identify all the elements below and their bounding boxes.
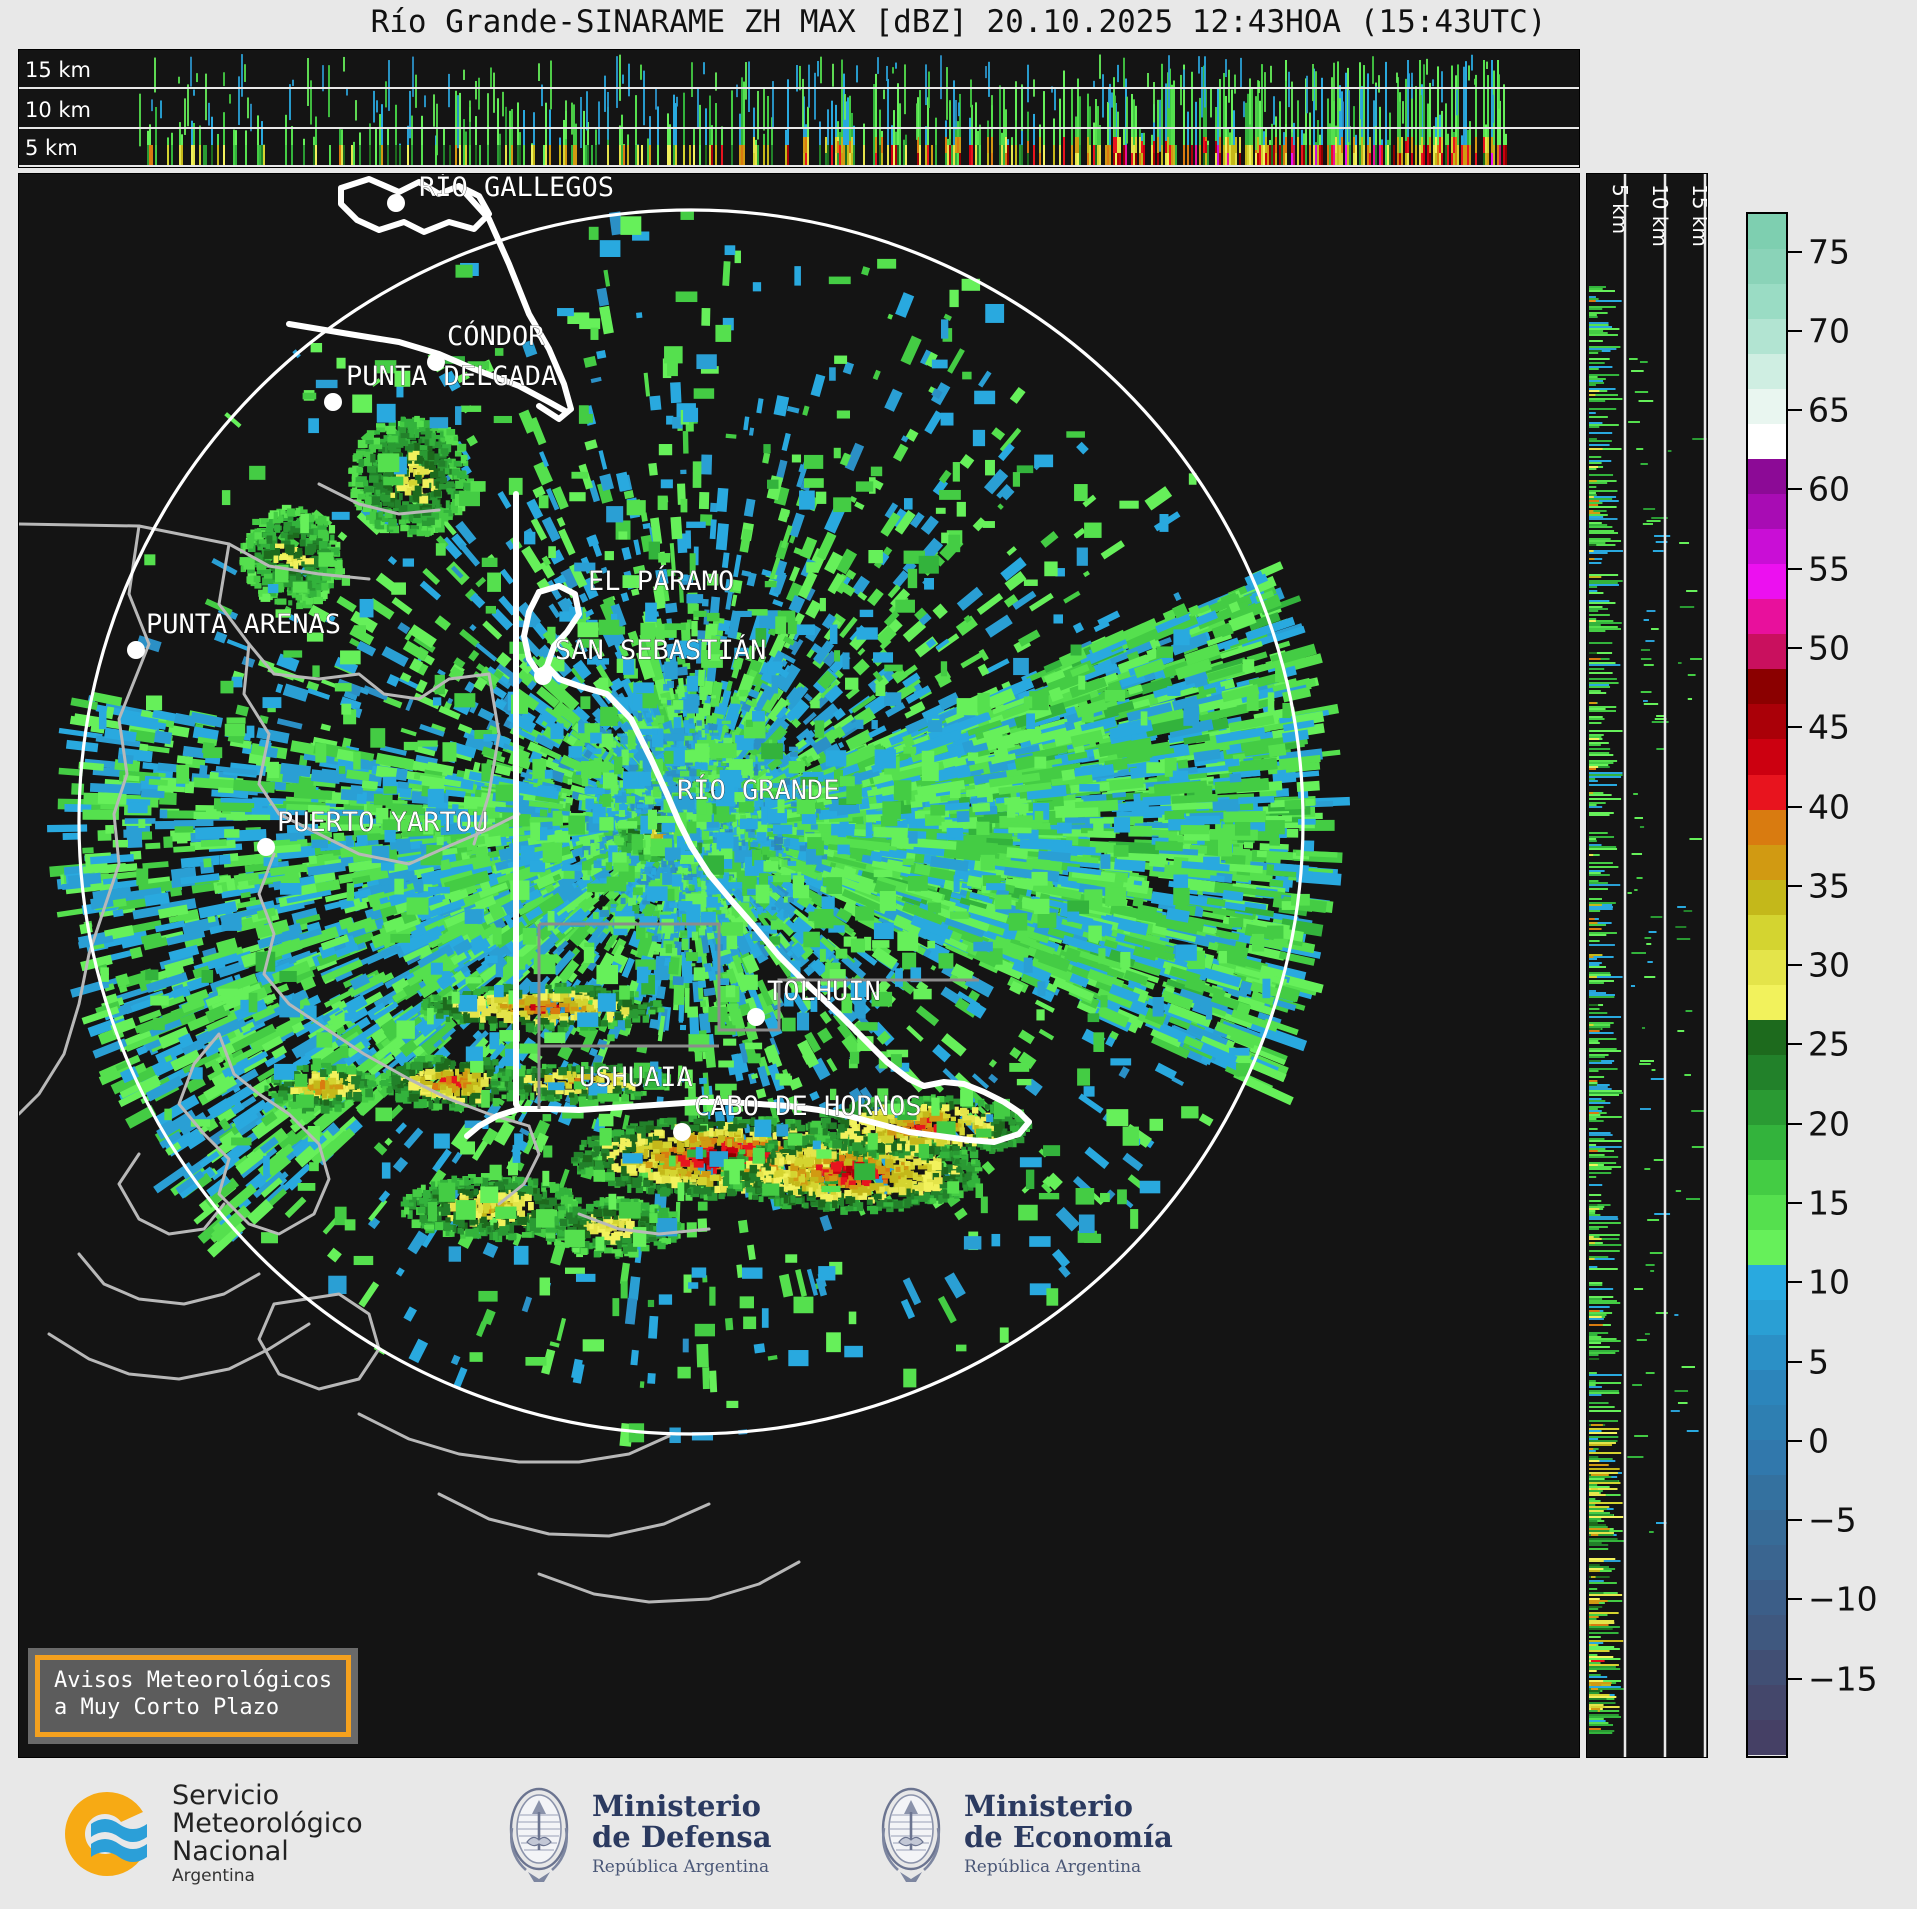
warning-line-1: Avisos Meteorológicos	[54, 1668, 332, 1695]
colorbar-segment	[1748, 775, 1786, 810]
colorbar-segment	[1748, 1440, 1786, 1475]
economia-line-1: Ministerio	[964, 1791, 1173, 1822]
colorbar-segment	[1748, 319, 1786, 354]
colorbar-tick	[1788, 330, 1802, 332]
colorbar-tick	[1788, 885, 1802, 887]
colorbar-tick-labels: 757065605550454035302520151050−5−10−15	[1788, 212, 1908, 1758]
colorbar-segment	[1748, 1545, 1786, 1580]
colorbar-segment	[1748, 284, 1786, 319]
colorbar-segment	[1748, 494, 1786, 529]
colorbar-tick	[1788, 409, 1802, 411]
colorbar-tick	[1788, 251, 1802, 253]
colorbar-segment	[1748, 564, 1786, 599]
top-xsec-label-5km: 5 km	[25, 136, 78, 160]
right-xsec-label-5km: 5 km	[1608, 184, 1632, 234]
colorbar-segment	[1748, 1090, 1786, 1125]
top-xsec-label-15km: 15 km	[25, 58, 91, 82]
colorbar-tick	[1788, 806, 1802, 808]
smn-line-3: Nacional	[172, 1838, 363, 1866]
colorbar-segment	[1748, 810, 1786, 845]
colorbar-segment	[1748, 1370, 1786, 1405]
colorbar-tick	[1788, 1361, 1802, 1363]
colorbar-tick	[1788, 1123, 1802, 1125]
city-marker-dot	[257, 838, 275, 856]
colorbar-segment	[1748, 1615, 1786, 1650]
colorbar-tick	[1788, 726, 1802, 728]
colorbar-tick-label: −15	[1808, 1659, 1878, 1698]
colorbar-segment	[1748, 1475, 1786, 1510]
colorbar-tick	[1788, 1440, 1802, 1442]
colorbar-segment	[1748, 1720, 1786, 1755]
footer-logos: Servicio Meteorológico Nacional Argentin…	[0, 1768, 1917, 1909]
city-label: PUNTA DELGADA	[346, 361, 557, 392]
colorbar-tick-label: 55	[1808, 549, 1850, 588]
warning-line-2: a Muy Corto Plazo	[54, 1695, 332, 1722]
city-label: RÍO GRANDE	[677, 774, 840, 806]
colorbar-segment	[1748, 354, 1786, 389]
colorbar-segment	[1748, 915, 1786, 950]
city-marker-dot	[534, 667, 552, 685]
city-label: PUNTA ARENAS	[146, 609, 341, 640]
colorbar-segment	[1748, 1580, 1786, 1615]
nowcast-warning-box[interactable]: Avisos Meteorológicos a Muy Corto Plazo	[28, 1648, 358, 1744]
colorbar-segment	[1748, 389, 1786, 424]
smn-line-2: Meteorológico	[172, 1810, 363, 1838]
colorbar-tick	[1788, 1281, 1802, 1283]
colorbar-tick-label: 75	[1808, 232, 1850, 271]
colorbar-tick-label: 15	[1808, 1184, 1850, 1223]
city-label: SAN SEBASTIÁN	[555, 634, 766, 666]
colorbar-segment	[1748, 424, 1786, 459]
colorbar-segment	[1748, 1230, 1786, 1265]
colorbar-segment	[1748, 1020, 1786, 1055]
colorbar-segment	[1748, 1265, 1786, 1300]
colorbar-tick-label: 45	[1808, 708, 1850, 747]
city-label: EL PÁRAMO	[588, 565, 734, 597]
city-label: USHUAIA	[579, 1062, 693, 1093]
city-label: TOLHUIN	[767, 976, 881, 1007]
top-cross-section-panel: 15 km 10 km 5 km	[18, 49, 1580, 168]
city-marker-dot	[673, 1123, 691, 1141]
colorbar-segment	[1748, 214, 1786, 249]
colorbar-tick-label: 5	[1808, 1342, 1829, 1381]
top-xsec-label-10km: 10 km	[25, 98, 91, 122]
colorbar-segment	[1748, 459, 1786, 494]
colorbar-tick-label: 25	[1808, 1025, 1850, 1064]
colorbar-segment	[1748, 1335, 1786, 1370]
argentina-coat-of-arms-icon	[872, 1782, 950, 1886]
smn-line-1: Servicio	[172, 1782, 363, 1810]
colorbar-segment	[1748, 985, 1786, 1020]
colorbar-segment	[1748, 1300, 1786, 1335]
colorbar-tick-label: 35	[1808, 866, 1850, 905]
colorbar-segment	[1748, 249, 1786, 284]
colorbar-segment	[1748, 634, 1786, 669]
smn-sub: Argentina	[172, 1868, 363, 1886]
colorbar-segment	[1748, 950, 1786, 985]
colorbar-tick-label: 40	[1808, 787, 1850, 826]
city-marker-dot	[324, 393, 342, 411]
defensa-sub: República Argentina	[592, 1857, 772, 1877]
colorbar-tick-label: 65	[1808, 391, 1850, 430]
economia-sub: República Argentina	[964, 1857, 1173, 1877]
argentina-coat-of-arms-icon	[500, 1782, 578, 1886]
colorbar-tick	[1788, 1202, 1802, 1204]
colorbar-segment	[1748, 739, 1786, 774]
colorbar-tick-label: 70	[1808, 311, 1850, 350]
right-cross-section-panel: 5 km 10 km 15 km	[1586, 173, 1708, 1758]
colorbar-tick-label: 30	[1808, 946, 1850, 985]
radar-reflectivity-map[interactable]: RÍO GALLEGOSCÓNDORPUNTA DELGADAEL PÁRAMO…	[18, 173, 1580, 1758]
right-xsec-label-15km: 15 km	[1688, 184, 1707, 247]
city-label: CABO DE HORNOS	[694, 1091, 922, 1122]
colorbar-tick	[1788, 647, 1802, 649]
colorbar-tick-label: 0	[1808, 1421, 1829, 1460]
page-title: Río Grande-SINARAME ZH MAX [dBZ] 20.10.2…	[0, 4, 1917, 40]
colorbar-tick	[1788, 1043, 1802, 1045]
colorbar-segment	[1748, 1195, 1786, 1230]
colorbar-segment	[1748, 1055, 1786, 1090]
colorbar-tick-label: 60	[1808, 470, 1850, 509]
economia-line-2: de Economía	[964, 1822, 1173, 1853]
colorbar-tick-label: 50	[1808, 629, 1850, 668]
city-marker-dot	[387, 194, 405, 212]
colorbar-tick	[1788, 568, 1802, 570]
city-label: CÓNDOR	[447, 320, 545, 352]
defensa-line-2: de Defensa	[592, 1822, 772, 1853]
colorbar-segment	[1748, 845, 1786, 880]
colorbar-segment	[1748, 669, 1786, 704]
colorbar-segment	[1748, 1685, 1786, 1720]
defensa-line-1: Ministerio	[592, 1791, 772, 1822]
colorbar	[1746, 212, 1788, 1758]
colorbar-segment	[1748, 880, 1786, 915]
colorbar-tick-label: 10	[1808, 1263, 1850, 1302]
colorbar-tick	[1788, 488, 1802, 490]
colorbar-tick	[1788, 1678, 1802, 1680]
colorbar-segment	[1748, 704, 1786, 739]
colorbar-tick-label: −5	[1808, 1501, 1857, 1540]
city-label: PUERTO YARTOU	[277, 807, 488, 838]
colorbar-tick-label: −10	[1808, 1580, 1878, 1619]
city-label: RÍO GALLEGOS	[419, 174, 614, 203]
colorbar-tick	[1788, 1519, 1802, 1521]
colorbar-segment	[1748, 1510, 1786, 1545]
colorbar-segment	[1748, 529, 1786, 564]
smn-logo-icon	[55, 1784, 160, 1884]
colorbar-segment	[1748, 1160, 1786, 1195]
logo-ministerio-de-defensa: Ministerio de Defensa República Argentin…	[500, 1782, 772, 1886]
colorbar-segment	[1748, 599, 1786, 634]
logo-servicio-meteorologico-nacional: Servicio Meteorológico Nacional Argentin…	[55, 1782, 363, 1886]
colorbar-tick-label: 20	[1808, 1104, 1850, 1143]
colorbar-tick	[1788, 964, 1802, 966]
right-xsec-label-10km: 10 km	[1648, 184, 1672, 247]
nowcast-warning-inner: Avisos Meteorológicos a Muy Corto Plazo	[35, 1655, 351, 1737]
colorbar-segment	[1748, 1405, 1786, 1440]
colorbar-tick	[1788, 1598, 1802, 1600]
colorbar-segment	[1748, 1125, 1786, 1160]
colorbar-segment	[1748, 1650, 1786, 1685]
logo-ministerio-de-economia: Ministerio de Economía República Argenti…	[872, 1782, 1173, 1886]
city-marker-dot	[747, 1008, 765, 1026]
city-marker-dot	[127, 641, 145, 659]
